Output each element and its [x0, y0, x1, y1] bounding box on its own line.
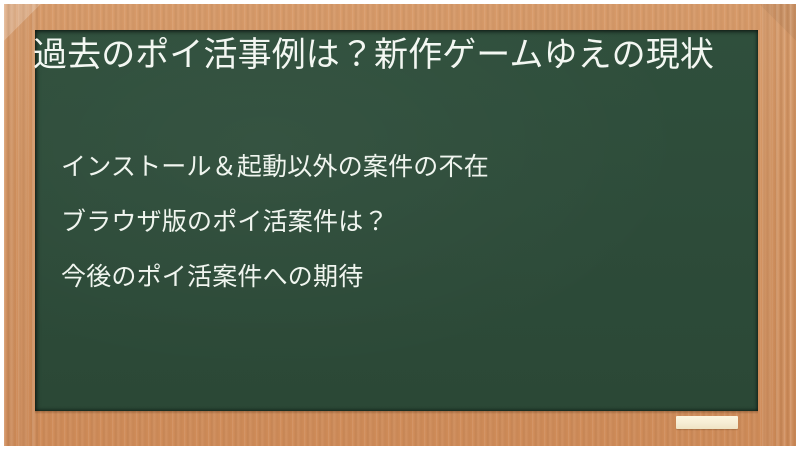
board-content: 過去のポイ活事例は？新作ゲームゆえの現状 インストール＆起動以外の案件の不在 ブ…: [35, 30, 758, 411]
chalkboard-surface: 過去のポイ活事例は？新作ゲームゆえの現状 インストール＆起動以外の案件の不在 ブ…: [35, 30, 758, 411]
wood-grain-right: [762, 4, 796, 446]
list-item[interactable]: ブラウザ版のポイ活案件は？: [61, 207, 721, 237]
chalk-icon: [676, 416, 738, 429]
outline-list: インストール＆起動以外の案件の不在 ブラウザ版のポイ活案件は？ 今後のポイ活案件…: [61, 152, 721, 292]
list-item[interactable]: インストール＆起動以外の案件の不在: [61, 152, 721, 182]
title-block: 過去のポイ活事例は？新作ゲームゆえの現状: [35, 32, 741, 78]
chalkboard-screenshot: 過去のポイ活事例は？新作ゲームゆえの現状 インストール＆起動以外の案件の不在 ブ…: [0, 0, 800, 450]
list-item[interactable]: 今後のポイ活案件への期待: [61, 262, 721, 292]
page-title: 過去のポイ活事例は？新作ゲームゆえの現状: [35, 32, 741, 78]
